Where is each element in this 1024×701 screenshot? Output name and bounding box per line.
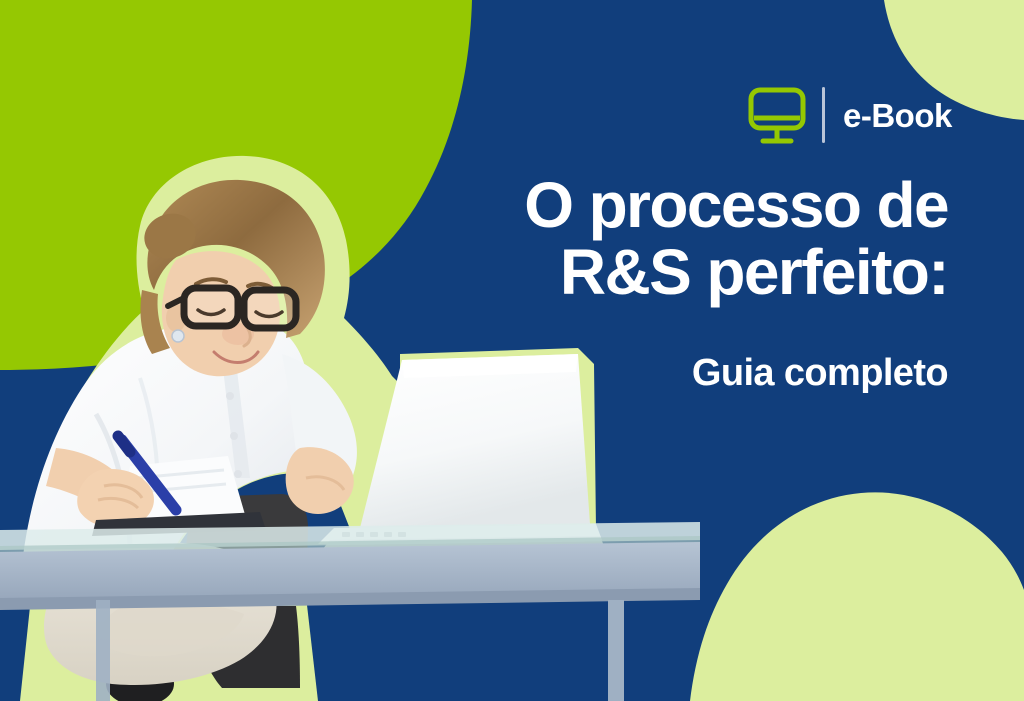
- page-subtitle: Guia completo: [308, 352, 948, 395]
- badge-label: e-Book: [843, 99, 952, 132]
- ebook-badge: e-Book: [746, 82, 952, 148]
- glass-desk: [0, 522, 700, 701]
- monitor-icon: [746, 84, 808, 146]
- page-title: O processo de R&S perfeito:: [308, 172, 948, 305]
- eyeglasses: [168, 288, 296, 328]
- badge-divider: [822, 87, 825, 143]
- headline-line-1: O processo de: [308, 172, 948, 239]
- headline-line-2: R&S perfeito:: [308, 239, 948, 306]
- ebook-cover: e-Book O processo de R&S perfeito: Guia …: [0, 0, 1024, 701]
